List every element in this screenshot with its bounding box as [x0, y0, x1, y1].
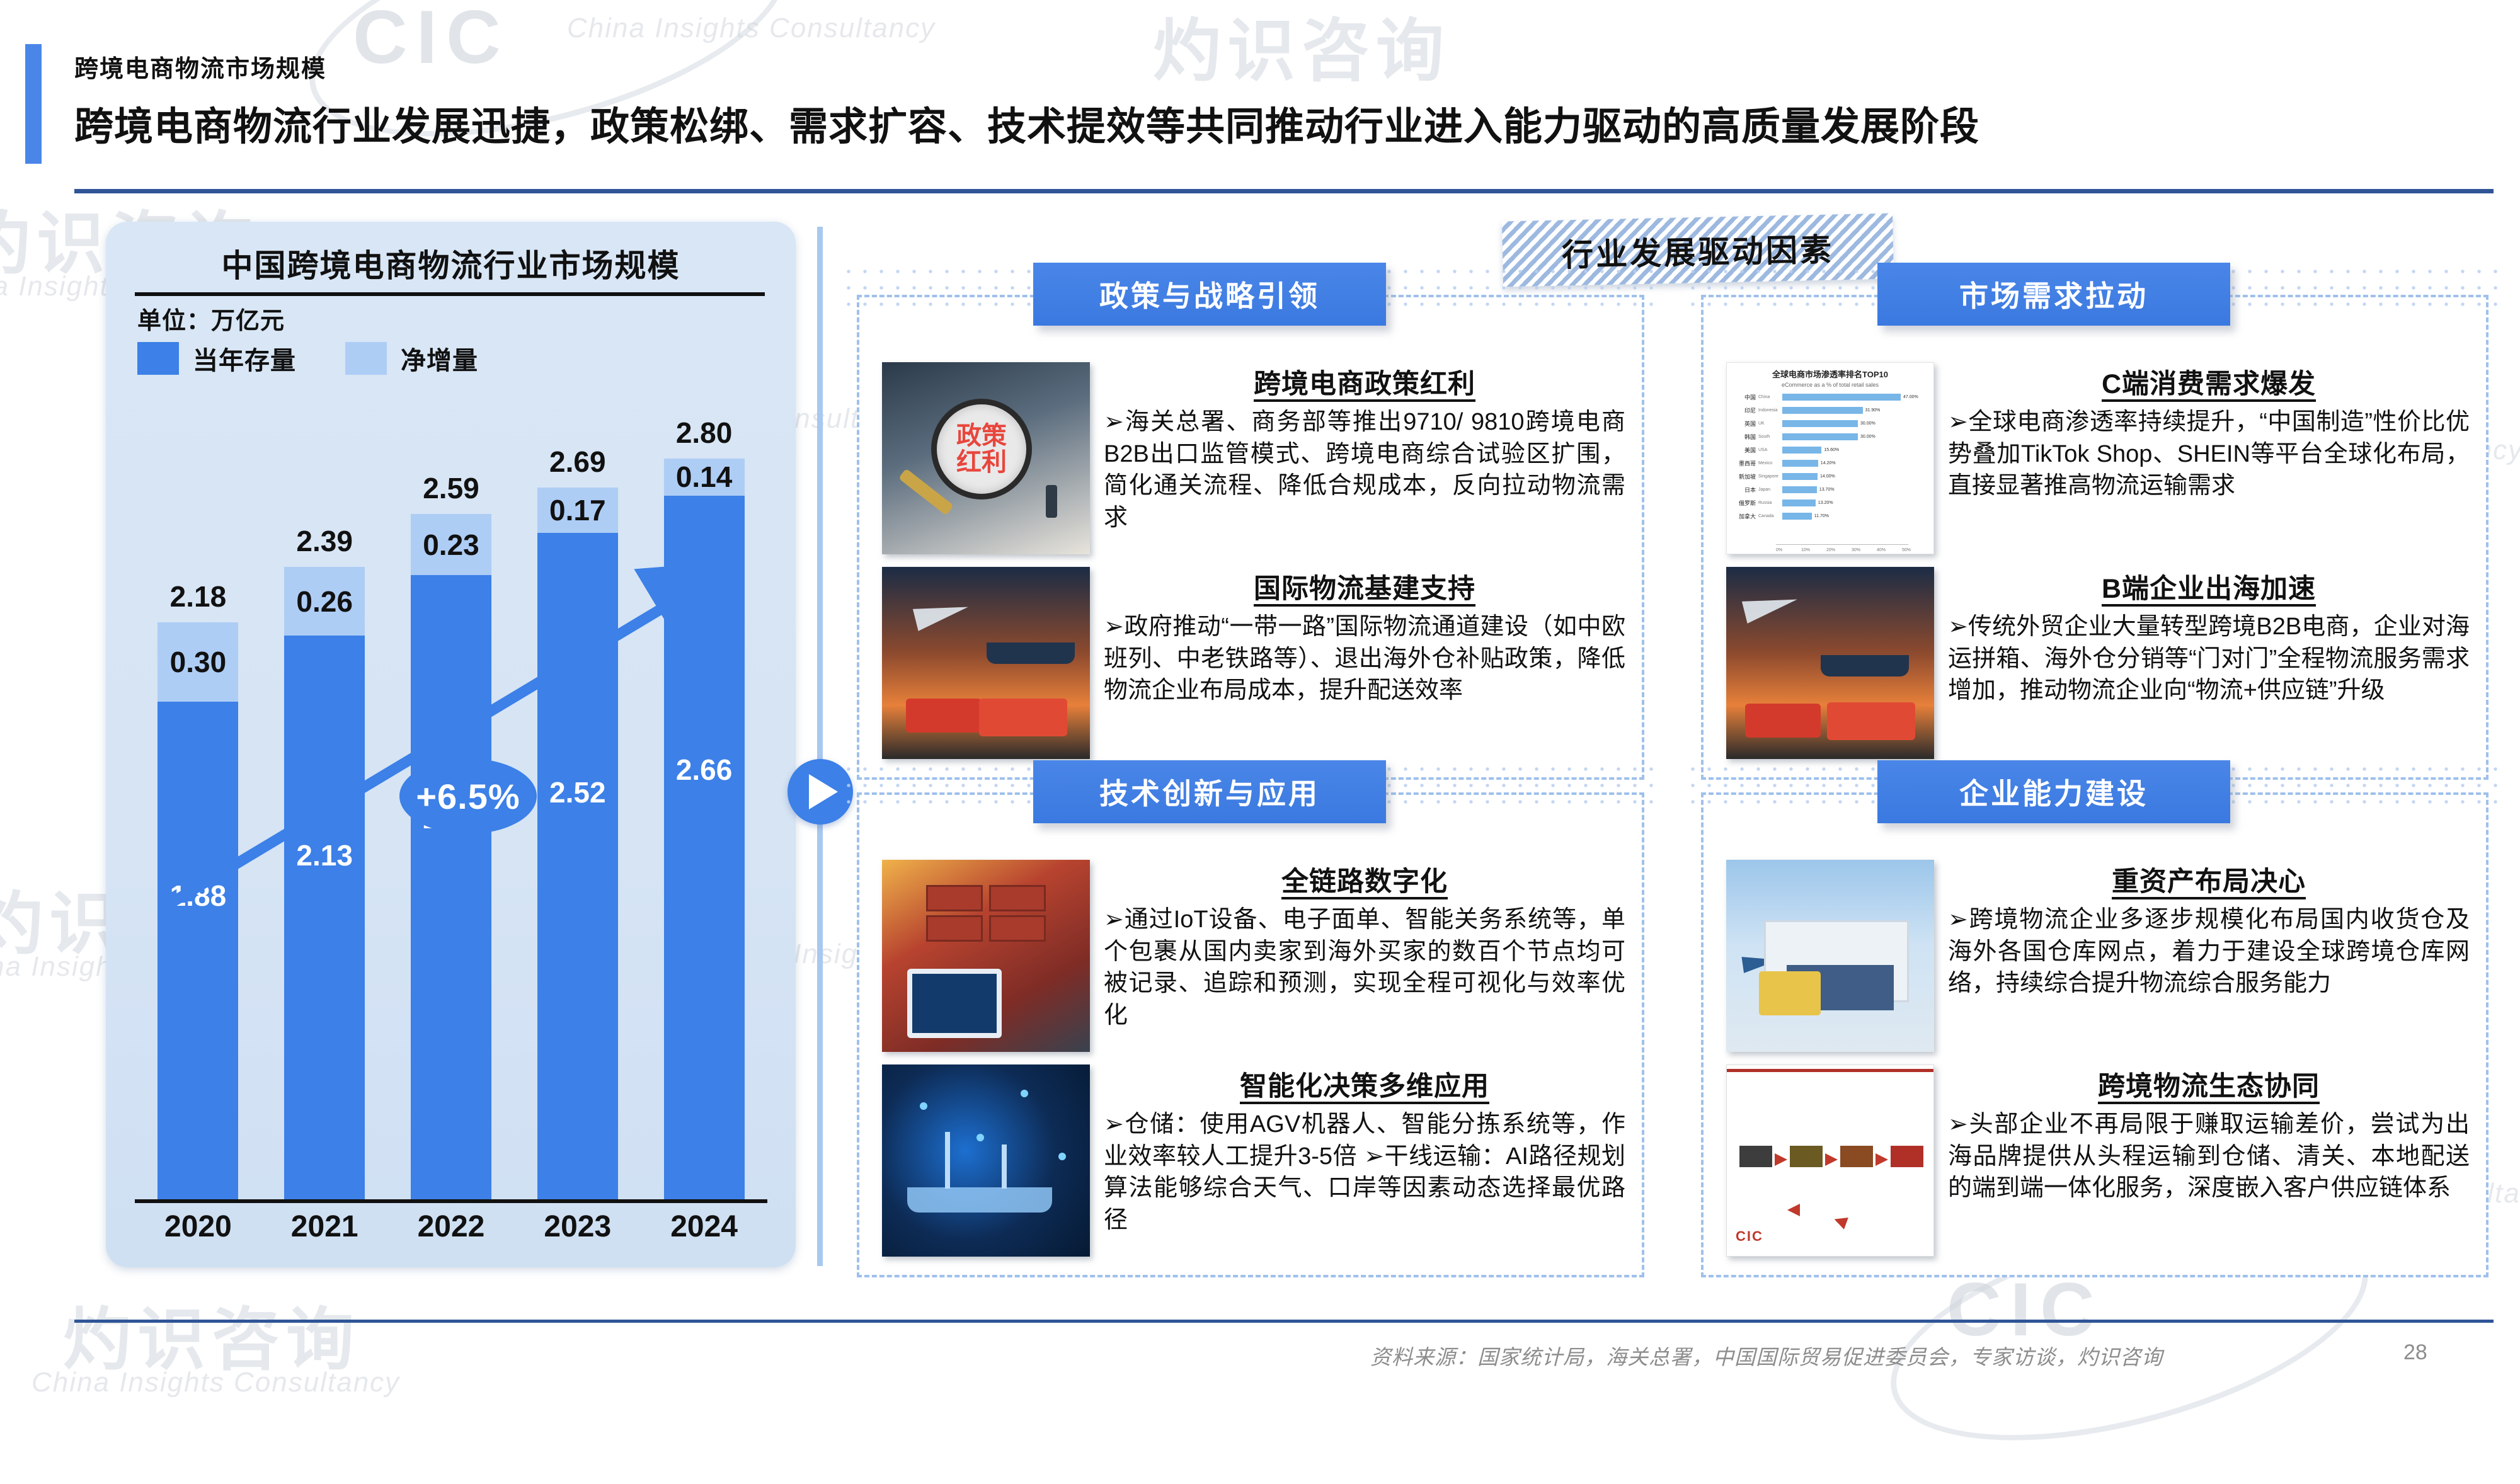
- bar-total-label: 2.80: [676, 416, 733, 450]
- embedded-x-tick: 30%: [1852, 548, 1860, 552]
- embedded-bar: [1782, 407, 1863, 414]
- bar-segment-net: 0.17: [537, 488, 618, 532]
- bar-value-stock: 2.36: [423, 801, 479, 835]
- chart-x-axis: [135, 1199, 767, 1203]
- bar-segment-net: 0.14: [664, 459, 745, 496]
- block-title: 国际物流基建支持: [1104, 567, 1625, 606]
- watermark-swoosh: [286, 0, 810, 180]
- source-note: 资料来源：国家统计局，海关总署，中国国际贸易促进委员会，专家访谈，灼识咨询: [1370, 1340, 2163, 1371]
- embedded-bar-value: 14.20%: [1821, 461, 1836, 465]
- ecommerce-penetration-chart: 全球电商市场渗透率排名TOP10 eCommerce as a % of tot…: [1726, 362, 1934, 554]
- embedded-bar: [1782, 420, 1858, 427]
- logistics-ecosystem-diagram: CIC: [1726, 1064, 1934, 1257]
- bar-segment-net: 0.23: [411, 514, 491, 575]
- embedded-bar-label-en: Japan: [1758, 488, 1780, 492]
- embedded-bar-label: 墨西哥: [1731, 459, 1756, 467]
- block-title: 跨境电商政策红利: [1104, 362, 1625, 401]
- embedded-bar-value: 13.70%: [1819, 488, 1835, 492]
- embedded-bar-label: 美国: [1731, 446, 1756, 454]
- warehouse-dock-photo: [1726, 860, 1934, 1052]
- legend-swatch-stock: [137, 342, 179, 375]
- bar-total-label: 2.39: [296, 524, 353, 558]
- quadrant-label-policy[interactable]: 政策与战略引领: [1033, 263, 1386, 326]
- bar-value-net: 0.26: [296, 585, 353, 619]
- embedded-bar-value: 31.90%: [1865, 408, 1881, 413]
- embedded-bar-label: 韩国: [1731, 433, 1756, 441]
- embedded-bar-row: 韩国South30.00%: [1731, 433, 1876, 441]
- legend-label-net: 净增量: [401, 340, 478, 377]
- bar-value-stock: 2.13: [296, 838, 353, 872]
- block-text: ➢传统外贸企业大量转型跨境B2B电商，企业对海运拼箱、海外仓分销等“门对门”全程…: [1948, 611, 2470, 707]
- watermark-cn: 灼识咨询: [63, 1285, 360, 1383]
- block-text: ➢海关总署、商务部等推出9710/ 9810跨境电商B2B出口监管模式、跨境电商…: [1104, 406, 1625, 534]
- embedded-x-tick: 10%: [1801, 548, 1810, 552]
- embedded-bar-label: 新加坡: [1731, 472, 1756, 481]
- driver-block: 智能化决策多维应用 ➢仓储：使用AGV机器人、智能分拣系统等，作业效率较人工提升…: [882, 1064, 1625, 1257]
- x-tick-label: 2022: [411, 1209, 491, 1244]
- block-text: ➢政府推动“一带一路”国际物流通道建设（如中欧班列、中老铁路等）、退出海外仓补贴…: [1104, 611, 1625, 707]
- bar-value-stock: 2.52: [549, 775, 606, 809]
- chart-unit-label: 单位：万亿元: [137, 301, 285, 336]
- embedded-bar: [1782, 513, 1812, 520]
- legend-label-stock: 当年存量: [193, 340, 296, 377]
- header-accent-bar: [25, 44, 42, 164]
- container-iot-photo: [882, 860, 1090, 1052]
- chart-title: 中国跨境电商物流行业市场规模: [106, 241, 796, 286]
- embedded-x-tick: 0%: [1776, 548, 1782, 552]
- driver-block: 重资产布局决心 ➢跨境物流企业多逐步规模化布局国内收货仓及海外各国仓库网点，着力…: [1726, 860, 2470, 1052]
- block-title: 重资产布局决心: [1948, 860, 2470, 899]
- bar-value-net: 0.30: [170, 645, 227, 679]
- driver-block: 全链路数字化 ➢通过IoT设备、电子面单、智能关务系统等，单个包裹从国内卖家到海…: [882, 860, 1625, 1052]
- driver-block: 政策红利 跨境电商政策红利 ➢海关总署、商务部等推出9710/ 9810跨境电商…: [882, 362, 1625, 554]
- quadrant-label-capability[interactable]: 企业能力建设: [1877, 760, 2230, 823]
- header-divider: [74, 189, 2494, 193]
- driver-block: 全球电商市场渗透率排名TOP10 eCommerce as a % of tot…: [1726, 362, 2470, 554]
- driver-block: CIC 跨境物流生态协同 ➢头部企业不再局限于赚取运输差价，尝试为出海品牌提供从…: [1726, 1064, 2470, 1257]
- bar-column: 2.800.142.66: [664, 406, 745, 1199]
- page-number: 28: [2403, 1340, 2427, 1365]
- block-title: 全链路数字化: [1104, 860, 1625, 899]
- embedded-bar-label-en: Russia: [1758, 501, 1780, 505]
- embedded-chart-subtitle: eCommerce as a % of total retail sales: [1727, 382, 1933, 388]
- x-tick-label: 2020: [157, 1209, 238, 1244]
- embedded-bar-row: 印尼Indonesia31.90%: [1731, 406, 1880, 414]
- embedded-x-tick: 20%: [1826, 548, 1835, 552]
- chart-plot-area: 2.180.301.882.390.262.132.590.232.362.69…: [135, 406, 767, 1199]
- bar-total-label: 2.59: [423, 471, 479, 505]
- footer-divider: [74, 1320, 2494, 1323]
- bar-total-label: 2.69: [549, 445, 606, 479]
- embedded-bar-label: 加拿大: [1731, 512, 1756, 520]
- bar-column: 2.690.172.52: [537, 406, 618, 1199]
- bar-column: 2.180.301.88: [157, 406, 238, 1199]
- bar-segment-stock: 2.13: [284, 636, 365, 1199]
- bar-segment-stock: 2.52: [537, 533, 618, 1199]
- policy-magnifier-photo: 政策红利: [882, 362, 1090, 554]
- driver-block: 国际物流基建支持 ➢政府推动“一带一路”国际物流通道建设（如中欧班列、中老铁路等…: [882, 567, 1625, 759]
- bar-value-net: 0.14: [676, 460, 733, 494]
- embedded-bar-label-en: China: [1758, 395, 1780, 399]
- embedded-bar: [1782, 394, 1901, 401]
- embedded-bar-value: 15.60%: [1824, 448, 1839, 452]
- embedded-chart-title: 全球电商市场渗透率排名TOP10: [1727, 368, 1933, 380]
- x-tick-label: 2021: [284, 1209, 365, 1244]
- bar-total-label: 2.18: [170, 579, 227, 614]
- embedded-bar-label: 印尼: [1731, 406, 1756, 414]
- embedded-bar-value: 13.20%: [1818, 501, 1833, 505]
- embedded-bar-label-en: Singapore: [1758, 474, 1780, 479]
- embedded-bar-row: 中国China47.00%: [1731, 393, 1918, 401]
- block-text: ➢头部企业不再局限于赚取运输差价，尝试为出海品牌提供从头程运输到仓储、清关、本地…: [1948, 1109, 2470, 1204]
- bar-segment-net: 0.30: [157, 622, 238, 702]
- embedded-bar: [1782, 486, 1817, 493]
- embedded-bar-row: 美国USA15.60%: [1731, 446, 1839, 454]
- embedded-bar-label-en: Indonesia: [1758, 408, 1780, 413]
- embedded-bar-row: 墨西哥Mexico14.20%: [1731, 459, 1836, 467]
- block-text: ➢跨境物流企业多逐步规模化布局国内收货仓及海外各国仓库网点，着力于建设全球跨境仓…: [1948, 904, 2470, 1000]
- bar-value-stock: 1.88: [170, 879, 227, 913]
- embedded-bar-label-en: USA: [1758, 448, 1780, 452]
- embedded-bar-label: 英国: [1731, 420, 1756, 428]
- embedded-bar: [1782, 473, 1818, 480]
- bar-segment-stock: 2.36: [411, 575, 491, 1199]
- bar-segment-stock: 1.88: [157, 702, 238, 1199]
- embedded-bar: [1782, 447, 1821, 454]
- embedded-x-tick: 50%: [1902, 548, 1911, 552]
- block-title: B端企业出海加速: [1948, 567, 2470, 606]
- embedded-bar-value: 11.70%: [1814, 514, 1829, 518]
- block-text: ➢仓储：使用AGV机器人、智能分拣系统等，作业效率较人工提升3-5倍 ➢干线运输…: [1104, 1109, 1625, 1236]
- embedded-bar-value: 30.00%: [1860, 435, 1876, 439]
- block-title: 智能化决策多维应用: [1104, 1064, 1625, 1104]
- embedded-bar-label-en: Canada: [1758, 514, 1780, 518]
- embedded-bar-label: 俄罗斯: [1731, 499, 1756, 507]
- eco-brand-mark: CIC: [1736, 1228, 1763, 1245]
- quadrant-label-technology[interactable]: 技术创新与应用: [1033, 760, 1386, 823]
- embedded-bar-row: 英国UK30.00%: [1731, 420, 1876, 428]
- bar-value-net: 0.23: [423, 528, 479, 562]
- embedded-bar: [1782, 433, 1858, 440]
- section-ribbon-label: 行业发展驱动因素: [1561, 224, 1834, 275]
- bar-value-stock: 2.66: [676, 753, 733, 787]
- embedded-bar-label: 日本: [1731, 486, 1756, 494]
- embedded-bar-row: 日本Japan13.70%: [1731, 486, 1835, 494]
- market-size-chart-card: 中国跨境电商物流行业市场规模 单位：万亿元 当年存量 净增量 2.180.301…: [106, 222, 796, 1267]
- bar-segment-stock: 2.66: [664, 496, 745, 1199]
- chart-x-tick-labels: 20202021202220232024: [135, 1209, 767, 1244]
- block-title: 跨境物流生态协同: [1948, 1064, 2470, 1104]
- play-icon[interactable]: [787, 759, 853, 825]
- section-ribbon: 行业发展驱动因素: [1502, 214, 1894, 287]
- embedded-bar-row: 新加坡Singapore14.00%: [1731, 472, 1835, 481]
- chart-title-rule: [135, 292, 765, 296]
- embedded-x-tick: 40%: [1877, 548, 1886, 552]
- block-text: ➢通过IoT设备、电子面单、智能关务系统等，单个包裹从国内卖家到海外买家的数百个…: [1104, 904, 1625, 1031]
- bar-column: 2.590.232.36: [411, 406, 491, 1199]
- embedded-bar-value: 47.00%: [1903, 395, 1918, 399]
- bar-column: 2.390.262.13: [284, 406, 365, 1199]
- legend-swatch-net: [345, 342, 387, 375]
- quadrant-label-demand[interactable]: 市场需求拉动: [1877, 263, 2230, 326]
- port-ship-photo: [1726, 567, 1934, 759]
- embedded-bar-label-en: South: [1758, 435, 1780, 439]
- panel-divider: [817, 227, 823, 1266]
- block-text: ➢全球电商渗透率持续提升，“中国制造”性价比优势叠加TikTok Shop、SH…: [1948, 406, 2470, 502]
- bar-value-net: 0.17: [549, 493, 606, 527]
- embedded-bar-label-en: Mexico: [1758, 461, 1780, 465]
- embedded-bar-value: 14.00%: [1820, 474, 1835, 479]
- watermark-cn: 灼识咨询: [1153, 0, 1450, 94]
- embedded-bar-row: 俄罗斯Russia13.20%: [1731, 499, 1833, 507]
- block-title: C端消费需求爆发: [1948, 362, 2470, 401]
- driver-block: B端企业出海加速 ➢传统外贸企业大量转型跨境B2B电商，企业对海运拼箱、海外仓分…: [1726, 567, 2470, 759]
- x-tick-label: 2024: [664, 1209, 745, 1244]
- page-title: 跨境电商物流行业发展迅捷，政策松绑、需求扩容、技术提效等共同推动行业进入能力驱动…: [74, 94, 1979, 151]
- embedded-bar-row: 加拿大Canada11.70%: [1731, 512, 1829, 520]
- bar-segment-net: 0.26: [284, 567, 365, 636]
- embedded-bar-value: 30.00%: [1860, 421, 1876, 426]
- x-tick-label: 2023: [537, 1209, 618, 1244]
- embedded-bar: [1782, 499, 1816, 506]
- embedded-bar-label-en: UK: [1758, 421, 1780, 426]
- bar-group: 2.180.301.882.390.262.132.590.232.362.69…: [135, 406, 767, 1199]
- chart-legend: 当年存量 净增量: [137, 340, 478, 377]
- international-logistics-photo: [882, 567, 1090, 759]
- watermark-en: China Insights Consultancy: [31, 1367, 400, 1398]
- embedded-bar-label: 中国: [1731, 393, 1756, 401]
- ai-ship-photo: [882, 1064, 1090, 1257]
- page-kicker: 跨境电商物流市场规模: [74, 49, 326, 84]
- embedded-bar: [1782, 460, 1818, 467]
